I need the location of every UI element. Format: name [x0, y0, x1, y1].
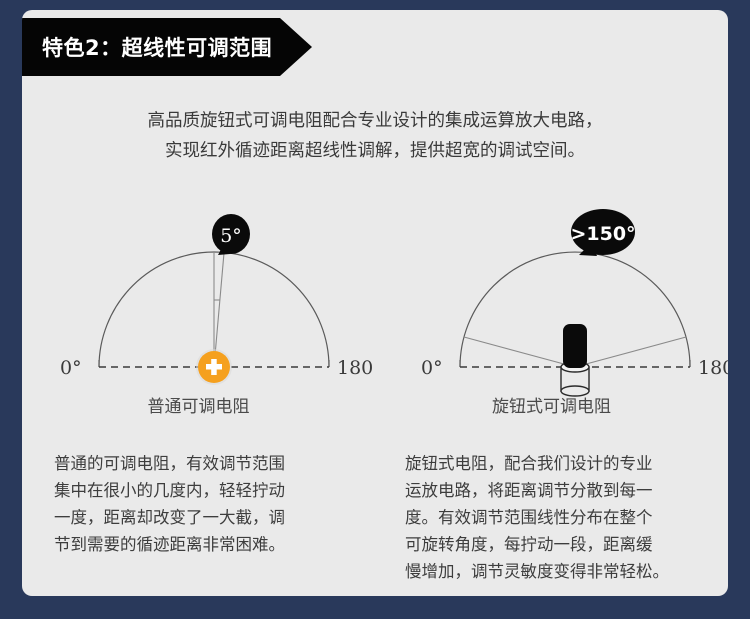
desc-right-line-1: 旋钮式电阻，配合我们设计的专业	[405, 450, 705, 477]
intro-paragraph: 高品质旋钮式可调电阻配合专业设计的集成运算放大电路， 实现红外循迹距离超线性调解…	[22, 106, 728, 166]
callout-label-left: 5°	[220, 225, 242, 247]
label-angle-end: 180°	[698, 357, 728, 379]
plus-icon[interactable]	[196, 349, 232, 385]
diagram-standard-potentiometer: 0° 180° 5°	[22, 200, 375, 420]
desc-right-line-4: 可旋转角度，每拧动一段，距离缓	[405, 531, 705, 558]
desc-left-line-2: 集中在很小的几度内，轻轻拧动	[54, 477, 354, 504]
promo-page: 特色2：超线性可调范围 高品质旋钮式可调电阻配合专业设计的集成运算放大电路， 实…	[0, 0, 750, 619]
description-rotary: 旋钮式电阻，配合我们设计的专业 运放电路，将距离调节分散到每一 度。有效调节范围…	[405, 450, 705, 585]
intro-line-1: 高品质旋钮式可调电阻配合专业设计的集成运算放大电路，	[22, 106, 728, 136]
rotary-knob-icon[interactable]	[561, 324, 589, 396]
caption-standard: 普通可调电阻	[22, 392, 375, 417]
callout-bubble-150deg: >150°	[570, 209, 635, 256]
callout-bubble-5deg: 5°	[212, 214, 250, 255]
callout-label-right: >150°	[570, 223, 635, 245]
desc-left-line-1: 普通的可调电阻，有效调节范围	[54, 450, 354, 477]
content-panel: 特色2：超线性可调范围 高品质旋钮式可调电阻配合专业设计的集成运算放大电路， 实…	[22, 10, 728, 596]
label-angle-start: 0°	[60, 357, 82, 379]
wedge-line-b	[575, 337, 686, 367]
desc-right-line-5: 慢增加，调节灵敏度变得非常轻松。	[405, 558, 705, 585]
label-angle-start: 0°	[421, 357, 443, 379]
desc-left-line-4: 节到需要的循迹距离非常困难。	[54, 531, 354, 558]
intro-line-2: 实现红外循迹距离超线性调解，提供超宽的调试空间。	[22, 136, 728, 166]
label-angle-end: 180°	[337, 357, 375, 379]
wedge-line-a	[464, 337, 575, 367]
caption-rotary: 旋钮式可调电阻	[375, 392, 728, 417]
desc-right-line-3: 度。有效调节范围线性分布在整个	[405, 504, 705, 531]
banner-title: 特色2：超线性可调范围	[22, 32, 272, 62]
diagram-rotary-potentiometer: 0° 180° >150°	[375, 200, 728, 420]
desc-right-line-2: 运放电路，将距离调节分散到每一	[405, 477, 705, 504]
description-standard: 普通的可调电阻，有效调节范围 集中在很小的几度内，轻轻拧动 一度，距离却改变了一…	[54, 450, 354, 558]
desc-left-line-3: 一度，距离却改变了一大截，调	[54, 504, 354, 531]
section-banner: 特色2：超线性可调范围	[22, 18, 312, 76]
